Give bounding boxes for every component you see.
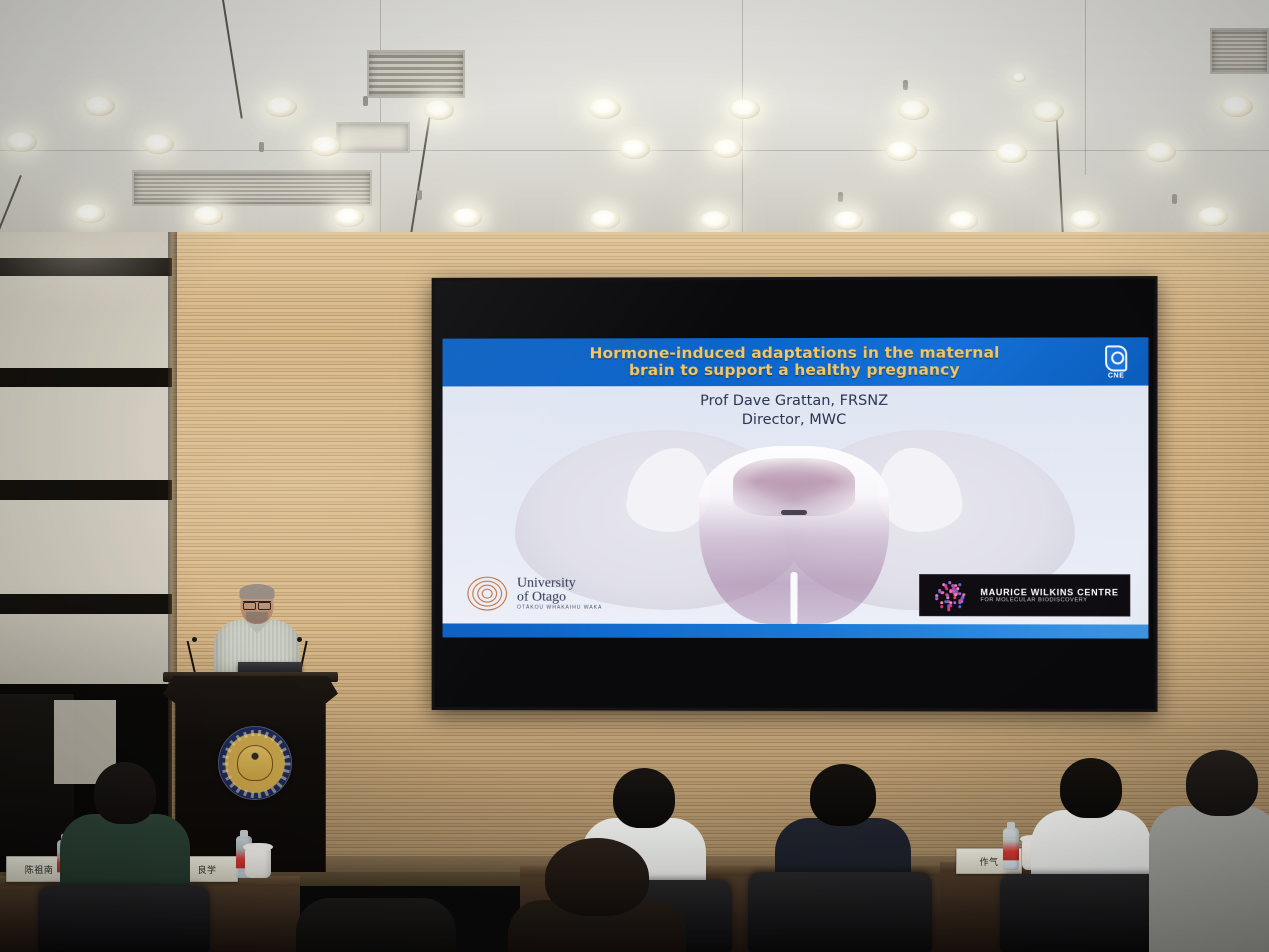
ceiling-downlight: [143, 134, 174, 154]
tea-cup: [245, 848, 271, 878]
sprinkler-head: [1172, 194, 1177, 204]
mwc-line2: FOR MOLECULAR BIODISCOVERY: [980, 597, 1118, 603]
projection-screen[interactable]: Hormone-induced adaptations in the mater…: [432, 276, 1158, 712]
ceiling: [0, 0, 1269, 240]
attendee-body: [1149, 806, 1269, 952]
slide-title-line2: brain to support a healthy pregnancy: [589, 362, 999, 380]
presenter-role: Director, MWC: [443, 410, 1149, 429]
ceiling-downlight: [310, 136, 341, 156]
nameplate-text: 陈祖南: [25, 863, 54, 876]
cne-logo: CNE: [1096, 342, 1136, 382]
otago-wordmark: University of Otago OTĀKOU WHAKAIHU WAKA: [517, 576, 602, 611]
brain-stained-region: [733, 458, 855, 516]
ceiling-downlight: [193, 206, 223, 225]
ceiling-downlight: [1032, 101, 1064, 122]
otago-line2: of Otago: [517, 591, 602, 605]
ceiling-downlight: [588, 98, 621, 119]
screen-display-area: Hormone-induced adaptations in the mater…: [435, 279, 1155, 709]
mwc-molecule-icon: [928, 578, 972, 612]
otago-mark-icon: [464, 574, 510, 614]
nameplate-text: 作气: [979, 855, 998, 868]
presenter-glasses: [243, 601, 271, 607]
nameplate-text: 良学: [197, 863, 216, 876]
otago-logo: University of Otago OTĀKOU WHAKAIHU WAKA: [464, 574, 602, 614]
slide-footer-bar: [443, 623, 1149, 638]
hvac-vent: [367, 50, 465, 98]
mwc-line1: MAURICE WILKINS CENTRE: [980, 587, 1118, 597]
sprinkler-head: [363, 96, 368, 106]
otago-line1: University: [517, 576, 602, 590]
attendee-body: [296, 898, 456, 952]
sprinkler-head: [417, 190, 422, 200]
ceiling-wire: [1055, 104, 1063, 234]
ceiling-downlight: [452, 208, 482, 227]
ceiling-downlight: [334, 208, 364, 227]
crest-ring: [218, 726, 292, 800]
attendee-head: [545, 838, 649, 916]
audience-chair: [748, 872, 932, 952]
cne-label: CNE: [1108, 373, 1125, 380]
attendee-front-left: [296, 884, 456, 952]
sprinkler-head: [838, 192, 843, 202]
attendee-front-center: [508, 838, 686, 952]
ceiling-downlight: [898, 100, 929, 120]
attendee-head: [1186, 750, 1258, 816]
presenter-beard: [246, 612, 268, 623]
sprinkler-head: [259, 142, 264, 152]
ceiling-wire: [0, 175, 21, 237]
ceiling-downlight: [886, 141, 917, 161]
cne-mark-icon: [1105, 345, 1127, 371]
presenter-hair: [240, 584, 275, 599]
slide-title-line1: Hormone-induced adaptations in the mater…: [589, 344, 999, 362]
hvac-vent: [1210, 28, 1269, 74]
hvac-vent: [132, 170, 372, 206]
brain-third-ventricle: [791, 572, 798, 624]
attendee-head: [94, 762, 156, 824]
ceiling-seam: [742, 0, 743, 240]
presenter-credit: Prof Dave Grattan, FRSNZ Director, MWC: [443, 392, 1149, 430]
ceiling-downlight: [1145, 142, 1176, 162]
attendee-far-right: [1174, 750, 1269, 952]
microphone-head-icon: [192, 637, 197, 642]
ceiling-downlight: [265, 97, 297, 117]
mwc-wordmark: MAURICE WILKINS CENTRE FOR MOLECULAR BIO…: [980, 587, 1118, 604]
ceiling-downlight: [75, 204, 105, 223]
ceiling-downlight: [1012, 73, 1026, 82]
ceiling-downlight: [833, 211, 863, 230]
lecture-hall-scene: Hormone-induced adaptations in the mater…: [0, 0, 1269, 952]
ceiling-seam: [380, 0, 381, 240]
ceiling-downlight: [1070, 210, 1100, 229]
audience-chair: [38, 886, 210, 952]
ceiling-downlight: [6, 132, 37, 152]
ceiling-downlight: [84, 96, 115, 116]
ceiling-downlight: [700, 211, 730, 230]
audience-chair: [1000, 874, 1168, 952]
presenter-name: Prof Dave Grattan, FRSNZ: [443, 392, 1149, 411]
water-bottle: [1003, 828, 1019, 870]
ceiling-downlight: [996, 143, 1027, 163]
maurice-wilkins-centre-logo: MAURICE WILKINS CENTRE FOR MOLECULAR BIO…: [919, 574, 1130, 616]
presentation-slide: Hormone-induced adaptations in the mater…: [443, 337, 1149, 638]
ceiling-downlight: [1198, 207, 1228, 226]
ceiling-downlight: [729, 99, 760, 119]
ceiling-access-panel: [336, 122, 410, 153]
ceiling-seam: [1085, 0, 1086, 175]
attendee-head: [1060, 758, 1122, 818]
slide-body: Prof Dave Grattan, FRSNZ Director, MWC U…: [443, 386, 1149, 625]
microphone-head-icon: [297, 637, 302, 642]
ceiling-downlight: [712, 139, 742, 158]
brain-fissure: [781, 510, 807, 515]
ceiling-downlight: [590, 210, 620, 229]
slide-title-bar: Hormone-induced adaptations in the mater…: [443, 337, 1149, 386]
ceiling-downlight: [619, 139, 650, 159]
ceiling-wire: [410, 108, 432, 237]
ceiling-downlight: [424, 100, 454, 120]
attendee-head: [810, 764, 876, 826]
ceiling-wire: [222, 0, 242, 119]
ceiling-downlight: [1221, 96, 1253, 117]
attendee-head: [613, 768, 675, 828]
sprinkler-head: [903, 80, 908, 90]
otago-maori-name: OTĀKOU WHAKAIHU WAKA: [517, 606, 602, 611]
ceiling-downlight: [948, 211, 978, 230]
